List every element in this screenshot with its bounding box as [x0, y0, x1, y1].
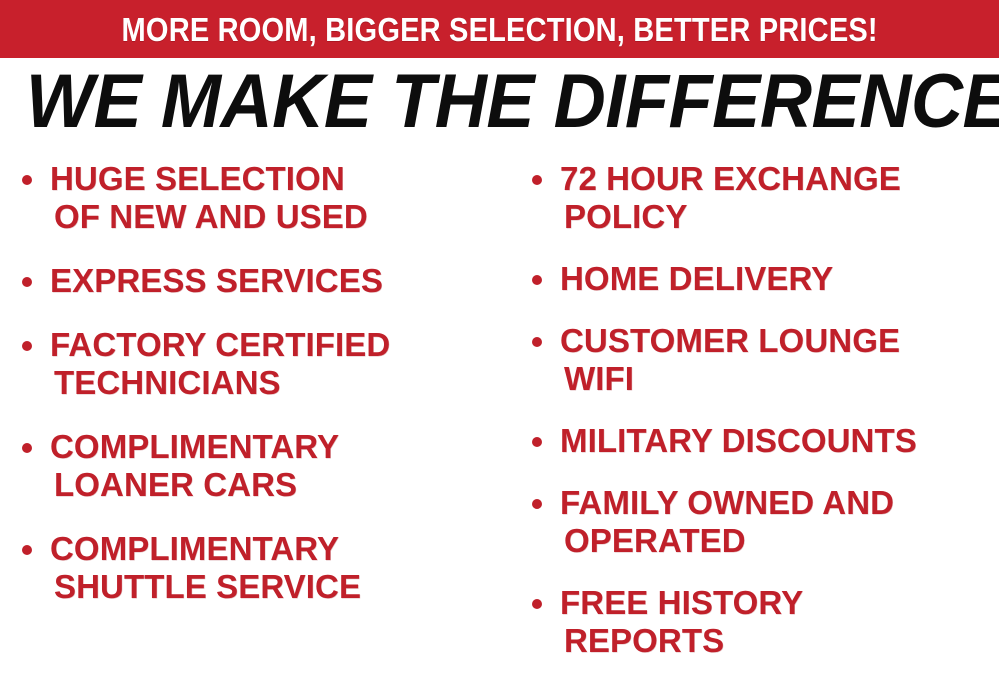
- benefit-item: FREE HISTORYREPORTS: [524, 584, 999, 660]
- benefit-item: COMPLIMENTARYSHUTTLE SERVICE: [14, 530, 505, 606]
- benefit-item-line: CUSTOMER LOUNGE: [560, 322, 999, 360]
- benefits-list-right: 72 HOUR EXCHANGEPOLICYHOME DELIVERYCUSTO…: [524, 160, 999, 660]
- benefit-item: 72 HOUR EXCHANGEPOLICY: [524, 160, 999, 236]
- benefit-item-line: MILITARY DISCOUNTS: [560, 422, 999, 460]
- benefit-item-line: COMPLIMENTARY: [50, 530, 505, 568]
- benefit-item: HUGE SELECTIONOF NEW AND USED: [14, 160, 505, 236]
- benefit-item-line: HUGE SELECTION: [50, 160, 505, 198]
- benefit-item-line: REPORTS: [560, 622, 999, 660]
- benefit-item: EXPRESS SERVICES: [14, 262, 505, 300]
- headline: WE MAKE THE DIFFERENCE: [0, 64, 999, 140]
- benefits-column-right: 72 HOUR EXCHANGEPOLICYHOME DELIVERYCUSTO…: [505, 152, 999, 684]
- benefit-item-line: HOME DELIVERY: [560, 260, 999, 298]
- benefit-item-line: FAMILY OWNED AND: [560, 484, 999, 522]
- benefit-item-line: OPERATED: [560, 522, 999, 560]
- benefit-item-line: EXPRESS SERVICES: [50, 262, 505, 300]
- benefits-column-left: HUGE SELECTIONOF NEW AND USEDEXPRESS SER…: [0, 152, 505, 632]
- top-banner-text: MORE ROOM, BIGGER SELECTION, BETTER PRIC…: [121, 13, 877, 46]
- benefit-item: FACTORY CERTIFIEDTECHNICIANS: [14, 326, 505, 402]
- headline-text: WE MAKE THE DIFFERENCE: [26, 64, 999, 140]
- benefit-item: HOME DELIVERY: [524, 260, 999, 298]
- benefit-item-line: FREE HISTORY: [560, 584, 999, 622]
- benefit-item-line: COMPLIMENTARY: [50, 428, 505, 466]
- benefit-item-line: FACTORY CERTIFIED: [50, 326, 505, 364]
- benefit-item-line: TECHNICIANS: [50, 364, 505, 402]
- benefit-item-line: OF NEW AND USED: [50, 198, 505, 236]
- benefit-item-line: LOANER CARS: [50, 466, 505, 504]
- benefits-list-left: HUGE SELECTIONOF NEW AND USEDEXPRESS SER…: [14, 160, 505, 606]
- benefit-item: CUSTOMER LOUNGEWIFI: [524, 322, 999, 398]
- benefit-item-line: 72 HOUR EXCHANGE: [560, 160, 999, 198]
- benefit-item: COMPLIMENTARYLOANER CARS: [14, 428, 505, 504]
- benefit-item-line: SHUTTLE SERVICE: [50, 568, 505, 606]
- benefit-item: MILITARY DISCOUNTS: [524, 422, 999, 460]
- benefit-item-line: WIFI: [560, 360, 999, 398]
- benefits-columns: HUGE SELECTIONOF NEW AND USEDEXPRESS SER…: [0, 152, 999, 692]
- benefit-item: FAMILY OWNED ANDOPERATED: [524, 484, 999, 560]
- promo-poster: MORE ROOM, BIGGER SELECTION, BETTER PRIC…: [0, 0, 999, 692]
- top-banner: MORE ROOM, BIGGER SELECTION, BETTER PRIC…: [0, 0, 999, 58]
- benefit-item-line: POLICY: [560, 198, 999, 236]
